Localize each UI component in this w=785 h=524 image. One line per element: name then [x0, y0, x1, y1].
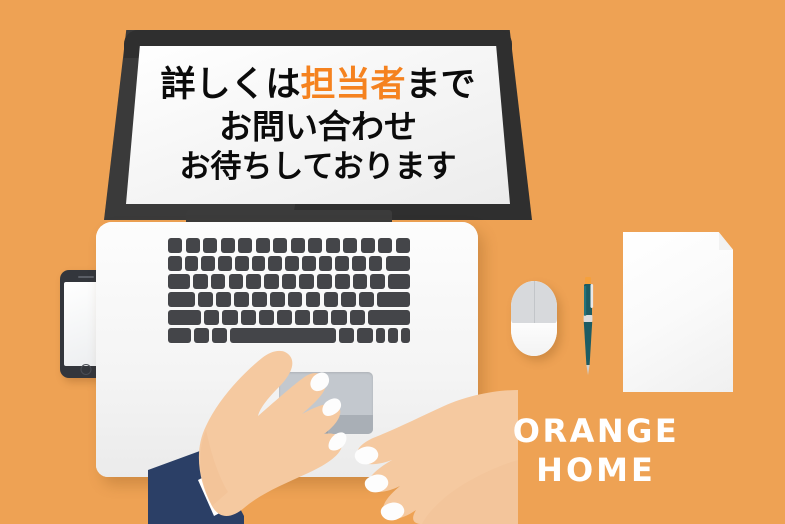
- keyboard-key-shift-left[interactable]: [168, 310, 201, 325]
- keyboard-key[interactable]: [252, 292, 267, 307]
- pen-highlight: [584, 286, 586, 316]
- screen-line-1: 詳しくは担当者まで: [160, 65, 475, 106]
- keyboard-row[interactable]: [168, 292, 410, 307]
- keyboard-key-backspace[interactable]: [386, 256, 411, 271]
- keyboard-key-arrow-updown[interactable]: [388, 328, 397, 343]
- keyboard-key[interactable]: [319, 256, 333, 271]
- paper-fold-corner: [719, 232, 733, 250]
- keyboard-key[interactable]: [273, 238, 287, 253]
- keyboard-key[interactable]: [229, 274, 244, 289]
- computer-mouse[interactable]: [511, 281, 557, 356]
- keyboard-key[interactable]: [203, 238, 217, 253]
- keyboard-key[interactable]: [388, 274, 410, 289]
- keyboard-key-enter[interactable]: [377, 292, 410, 307]
- keyboard-key[interactable]: [168, 238, 182, 253]
- keyboard-key[interactable]: [341, 292, 356, 307]
- keyboard-key[interactable]: [396, 238, 410, 253]
- keyboard-key[interactable]: [218, 256, 232, 271]
- keyboard-key[interactable]: [299, 274, 314, 289]
- keyboard-row[interactable]: [168, 310, 410, 325]
- keyboard-key[interactable]: [288, 292, 303, 307]
- keyboard-key[interactable]: [277, 310, 292, 325]
- keyboard-key[interactable]: [259, 310, 274, 325]
- keyboard-row[interactable]: [168, 256, 410, 271]
- keyboard-key[interactable]: [216, 292, 231, 307]
- keyboard-row[interactable]: [168, 238, 410, 253]
- keyboard-key[interactable]: [234, 292, 249, 307]
- keyboard-key[interactable]: [350, 310, 365, 325]
- keyboard-key[interactable]: [198, 292, 213, 307]
- keyboard-key[interactable]: [353, 274, 368, 289]
- keyboard-key[interactable]: [168, 256, 182, 271]
- phone-home-button-icon[interactable]: [81, 364, 92, 375]
- right-hand: [318, 384, 518, 524]
- mouse-body: [511, 323, 557, 356]
- screen-line-1-post: まで: [406, 65, 476, 105]
- keyboard-key[interactable]: [235, 256, 249, 271]
- keyboard-key[interactable]: [186, 238, 200, 253]
- keyboard-key[interactable]: [185, 256, 199, 271]
- keyboard-key[interactable]: [282, 274, 297, 289]
- keyboard-key[interactable]: [201, 256, 215, 271]
- keyboard-key[interactable]: [264, 274, 279, 289]
- keyboard-key[interactable]: [317, 274, 332, 289]
- keyboard-key[interactable]: [221, 238, 235, 253]
- keyboard-key[interactable]: [241, 310, 256, 325]
- pen-band: [584, 315, 593, 322]
- brand-wordmark: ORANGE HOME: [498, 412, 694, 490]
- keyboard-key[interactable]: [222, 310, 237, 325]
- keyboard-key[interactable]: [335, 256, 349, 271]
- keyboard-key-shift-right[interactable]: [368, 310, 410, 325]
- keyboard-key-menu[interactable]: [357, 328, 372, 343]
- pen-tip: [586, 365, 589, 375]
- paper-sheet[interactable]: [623, 232, 733, 392]
- keyboard-key[interactable]: [369, 256, 383, 271]
- keyboard-key[interactable]: [331, 310, 346, 325]
- laptop-screen-message: 詳しくは担当者まで お問い合わせ お待ちしております: [126, 46, 510, 204]
- pen-lower-barrel: [584, 322, 592, 365]
- keyboard-key-arrow-left[interactable]: [376, 328, 385, 343]
- keyboard-key[interactable]: [378, 238, 392, 253]
- keyboard-key[interactable]: [193, 274, 208, 289]
- brand-line-1: ORANGE: [498, 412, 694, 451]
- phone-speaker-icon: [78, 276, 94, 279]
- keyboard-key[interactable]: [352, 256, 366, 271]
- poster-canvas: 詳しくは担当者まで お問い合わせ お待ちしております: [0, 0, 785, 524]
- keyboard-key[interactable]: [324, 292, 339, 307]
- screen-line-1-highlight: 担当者: [300, 65, 405, 105]
- keyboard-key[interactable]: [326, 238, 340, 253]
- keyboard-key[interactable]: [306, 292, 321, 307]
- keyboard-key[interactable]: [211, 274, 226, 289]
- keyboard-key[interactable]: [252, 256, 266, 271]
- keyboard-key[interactable]: [335, 274, 350, 289]
- pen-clip: [591, 284, 594, 308]
- keyboard-key-tab[interactable]: [168, 274, 190, 289]
- keyboard-key[interactable]: [295, 310, 310, 325]
- screen-line-1-pre: 詳しくは: [160, 65, 300, 105]
- keyboard-key[interactable]: [285, 256, 299, 271]
- keyboard-key-arrow-right[interactable]: [401, 328, 410, 343]
- mouse-button-divider: [534, 281, 535, 323]
- screen-line-3: お待ちしております: [179, 149, 456, 186]
- keyboard-key[interactable]: [246, 274, 261, 289]
- keyboard-key[interactable]: [359, 292, 374, 307]
- keyboard-key[interactable]: [361, 238, 375, 253]
- keyboard-key[interactable]: [238, 238, 252, 253]
- brand-line-2: HOME: [498, 451, 694, 490]
- keyboard-key[interactable]: [370, 274, 385, 289]
- keyboard-key-capslock[interactable]: [168, 292, 195, 307]
- keyboard-key[interactable]: [291, 238, 305, 253]
- keyboard-key[interactable]: [270, 292, 285, 307]
- ballpoint-pen[interactable]: [580, 277, 596, 377]
- keyboard-key[interactable]: [308, 238, 322, 253]
- keyboard-key[interactable]: [256, 238, 270, 253]
- keyboard-key[interactable]: [302, 256, 316, 271]
- keyboard-key[interactable]: [204, 310, 219, 325]
- keyboard-row[interactable]: [168, 274, 410, 289]
- keyboard-key[interactable]: [343, 238, 357, 253]
- keyboard-key[interactable]: [268, 256, 282, 271]
- keyboard-key[interactable]: [313, 310, 328, 325]
- screen-line-2: お問い合わせ: [219, 108, 417, 147]
